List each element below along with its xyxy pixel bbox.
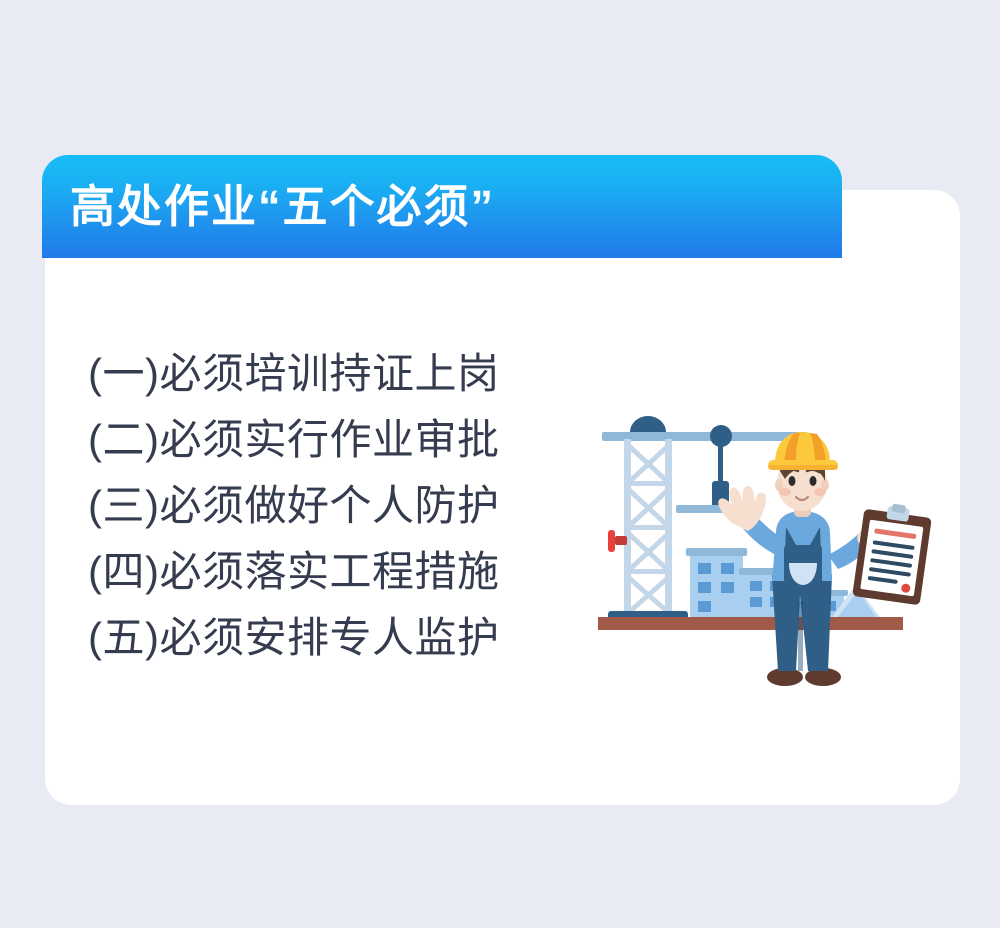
construction-scene-svg: 戴安全帽的建筑工人手持记录板，身后是塔吊与楼房 — [580, 405, 950, 705]
requirements-list: (一)必须培训持证上岗 (二)必须实行作业审批 (三)必须做好个人防护 (四)必… — [88, 350, 499, 661]
crane-mast-icon — [624, 439, 672, 617]
crane-jib-icon — [602, 432, 807, 441]
construction-scene-illustration: 戴安全帽的建筑工人手持记录板，身后是塔吊与楼房 — [580, 405, 950, 705]
crane-cab-icon — [630, 416, 666, 432]
clipboard-icon — [852, 500, 933, 606]
list-item: (三)必须做好个人防护 — [88, 482, 499, 529]
page-title: 高处作业“五个必须” — [70, 184, 495, 229]
list-item: (二)必须实行作业审批 — [88, 416, 499, 463]
list-item: (一)必须培训持证上岗 — [88, 350, 499, 397]
worker-figure-icon — [718, 432, 933, 686]
list-item: (四)必须落实工程措施 — [88, 548, 499, 595]
list-item: (五)必须安排专人监护 — [88, 614, 499, 661]
poster-root: 高处作业“五个必须” (一)必须培训持证上岗 (二)必须实行作业审批 (三)必须… — [0, 0, 1000, 928]
ground-strip-icon — [598, 617, 903, 630]
header-bar: 高处作业“五个必须” — [42, 155, 842, 258]
